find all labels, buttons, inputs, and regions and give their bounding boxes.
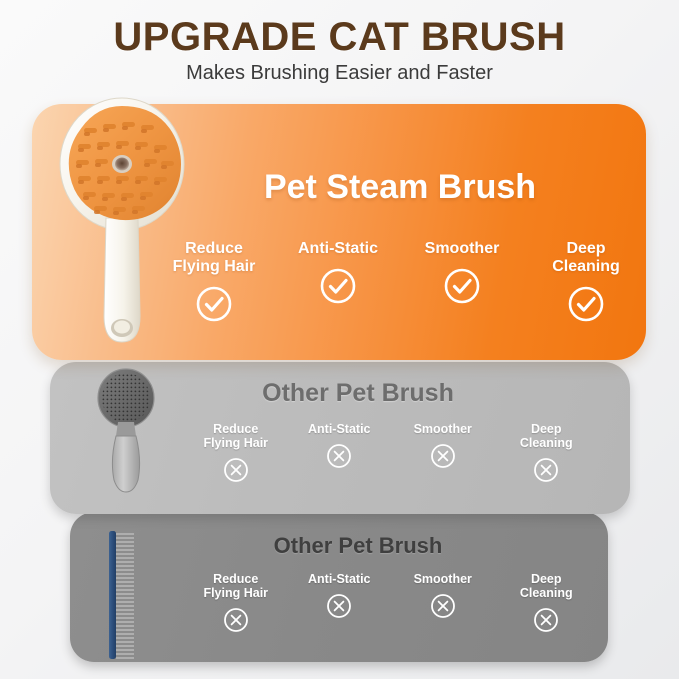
cross-icon <box>430 443 456 469</box>
cross-icon <box>326 593 352 619</box>
feature-label: Deep Cleaning <box>552 240 620 276</box>
feature-anti-static: Anti-Static <box>288 572 392 633</box>
feature-label: Reduce Flying Hair <box>203 422 268 450</box>
check-icon <box>443 267 481 305</box>
feature-row-other-brush-comb: Reduce Flying Hair Anti-Static Smoother <box>184 572 598 633</box>
feature-label: Deep Cleaning <box>520 422 573 450</box>
feature-label: Anti-Static <box>308 422 371 436</box>
feature-anti-static: Anti-Static <box>288 422 392 483</box>
feature-smoother: Smoother <box>391 572 495 633</box>
panel-title-other-brush-slicker: Other Pet Brush <box>160 379 556 408</box>
feature-deep-cleaning: Deep Cleaning <box>495 572 599 633</box>
cross-icon <box>533 457 559 483</box>
cross-icon <box>326 443 352 469</box>
feature-anti-static: Anti-Static <box>276 240 400 323</box>
cross-icon <box>223 607 249 633</box>
feature-deep-cleaning: Deep Cleaning <box>495 422 599 483</box>
cross-icon <box>533 607 559 633</box>
comb-icon <box>100 528 146 662</box>
steam-brush-icon <box>56 92 192 354</box>
feature-label: Smoother <box>425 240 500 258</box>
feature-label: Deep Cleaning <box>520 572 573 600</box>
panel-title-other-brush-comb: Other Pet Brush <box>160 533 556 559</box>
page-title: UPGRADE CAT BRUSH <box>0 16 679 58</box>
slicker-brush-icon <box>82 366 170 494</box>
feature-label: Anti-Static <box>298 240 378 258</box>
feature-row-steam-brush: Reduce Flying Hair Anti-Static Smoother <box>152 240 648 323</box>
check-icon <box>319 267 357 305</box>
cross-icon <box>430 593 456 619</box>
cross-icon <box>223 457 249 483</box>
feature-label: Smoother <box>414 422 472 436</box>
feature-row-other-brush-slicker: Reduce Flying Hair Anti-Static Smoother <box>184 422 598 483</box>
feature-smoother: Smoother <box>400 240 524 323</box>
feature-smoother: Smoother <box>391 422 495 483</box>
feature-label: Reduce Flying Hair <box>203 572 268 600</box>
feature-label: Smoother <box>414 572 472 586</box>
feature-reduce-flying-hair: Reduce Flying Hair <box>184 572 288 633</box>
feature-deep-cleaning: Deep Cleaning <box>524 240 648 323</box>
comparison-infographic: UPGRADE CAT BRUSH Makes Brushing Easier … <box>0 0 679 679</box>
check-icon <box>195 285 233 323</box>
panel-title-steam-brush: Pet Steam Brush <box>120 168 679 207</box>
feature-reduce-flying-hair: Reduce Flying Hair <box>184 422 288 483</box>
check-icon <box>567 285 605 323</box>
feature-label: Anti-Static <box>308 572 371 586</box>
page-subtitle: Makes Brushing Easier and Faster <box>0 62 679 85</box>
